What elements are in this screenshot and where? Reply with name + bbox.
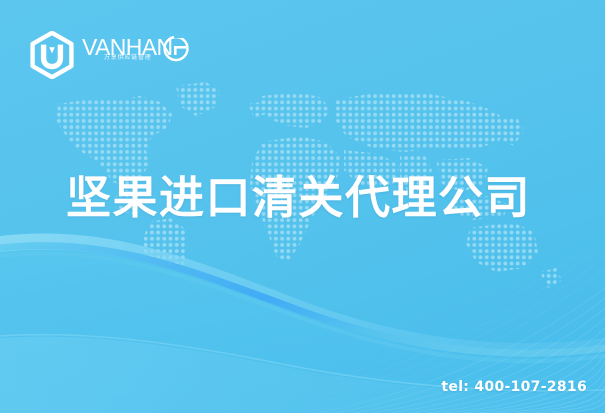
vanhang-wordmark-icon: VANHAN <box>82 33 192 67</box>
brand-wordmark-group: VANHAN 万享供应链管理 <box>82 33 192 77</box>
hexagon-u-mark-icon <box>30 31 74 79</box>
promo-banner: VANHAN 万享供应链管理 坚果进口清关代理公司 tel: 400-107-2… <box>0 0 605 413</box>
page-title: 坚果进口清关代理公司 <box>66 172 531 224</box>
brand-logo[interactable]: VANHAN 万享供应链管理 <box>30 30 192 80</box>
brand-subtitle: 万享供应链管理 <box>104 55 152 61</box>
contact-phone[interactable]: tel: 400-107-2816 <box>441 379 587 395</box>
